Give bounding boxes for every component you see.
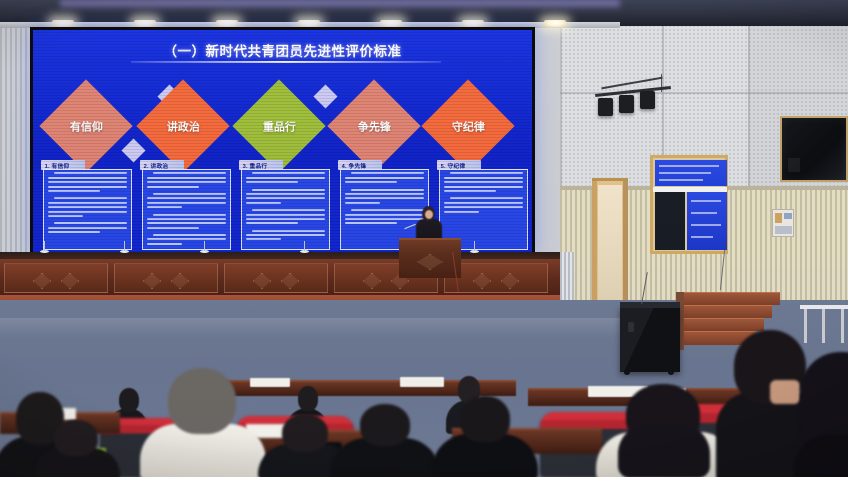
stage-panel-diamond <box>61 273 79 289</box>
stage-panel-cell <box>224 263 328 293</box>
booth-reflection-line <box>659 172 711 174</box>
stage-light-can <box>640 91 655 109</box>
mini-diamond-decor <box>313 84 337 108</box>
stair-step <box>676 305 772 318</box>
person-head <box>360 404 410 446</box>
mic-stand <box>474 241 475 251</box>
stage-panel-diamond <box>473 273 491 289</box>
ceiling-spot-light <box>298 20 320 27</box>
led-screen[interactable]: （一）新时代共青团员先进性评价标准 有信仰 讲政治 重品行 争先锋 <box>30 27 535 255</box>
desk-paper <box>400 377 444 387</box>
wall-tv[interactable] <box>780 116 848 182</box>
person-head <box>282 414 328 452</box>
floor-speaker-caster <box>624 370 630 375</box>
poster-block <box>775 213 782 223</box>
diamond-5-label: 守纪律 <box>452 118 485 134</box>
control-booth-window[interactable] <box>650 155 728 254</box>
stage-panel-cell <box>4 263 108 293</box>
slide-title: （一）新时代共青团员先进性评价标准 <box>33 40 532 60</box>
door-panel <box>598 185 622 300</box>
mini-diamond-decor <box>121 138 145 162</box>
audience-person-foreground <box>140 368 266 477</box>
booth-lower-glass <box>687 192 727 250</box>
mic-stand <box>124 241 125 251</box>
person-head <box>168 368 236 434</box>
stage-panel-diamond <box>281 273 299 289</box>
ceiling-spot-light <box>544 20 566 27</box>
floor-speaker <box>620 306 680 372</box>
podium <box>399 238 461 278</box>
auditorium-photo: （一）新时代共青团员先进性评价标准 有信仰 讲政治 重品行 争先锋 <box>0 0 848 477</box>
stage-panel-diamond <box>501 273 519 289</box>
panel-5-heading: 5. 守纪律 <box>441 161 466 170</box>
slide-panel-2[interactable]: 2. 讲政治 <box>140 160 231 250</box>
diamond-row: 有信仰 讲政治 重品行 争先锋 守纪律 <box>33 90 532 162</box>
mic-stand <box>44 241 45 251</box>
person-head <box>119 388 139 412</box>
diamond-3-label: 重品行 <box>263 118 296 134</box>
panel-3-heading: 3. 重品行 <box>243 161 268 170</box>
stage-panel-diamond <box>143 273 161 289</box>
booth-reflection-line <box>691 236 713 238</box>
ceiling-spot-light <box>216 20 238 27</box>
audience-person-foreground <box>330 404 440 477</box>
ceiling-spot-light <box>462 20 484 27</box>
hair-fall <box>618 424 710 477</box>
diamond-4-label: 争先锋 <box>358 118 391 134</box>
booth-reflection-line <box>659 179 703 181</box>
cove-light <box>60 0 620 10</box>
booth-reflection-line <box>691 212 717 214</box>
panel-1-body <box>43 169 132 250</box>
person-head <box>54 420 98 456</box>
stage-panel-diamond <box>33 273 51 289</box>
side-table-leg <box>841 309 844 343</box>
diamond-2-label: 讲政治 <box>167 118 200 134</box>
booth-reflection-line <box>691 200 721 202</box>
diamond-5[interactable]: 守纪律 <box>421 79 514 172</box>
wall-seam <box>748 0 750 190</box>
neck-skin <box>770 380 800 404</box>
mic-stand <box>304 241 305 251</box>
panel-3-body <box>241 169 330 250</box>
slide-panel-3[interactable]: 3. 重品行 <box>239 160 330 250</box>
stage-panel-cell <box>114 263 218 293</box>
mic-stand <box>204 241 205 251</box>
floor-speaker-top <box>620 302 680 308</box>
person-head <box>460 396 510 442</box>
side-door[interactable] <box>592 178 628 300</box>
ceiling-spot-light <box>380 20 402 27</box>
diamond-1[interactable]: 有信仰 <box>39 79 132 172</box>
stair-step <box>676 292 780 305</box>
booth-reflection-line <box>691 224 721 226</box>
stage-panel-diamond <box>363 273 381 289</box>
title-underline <box>131 61 441 63</box>
slide-panel-5[interactable]: 5. 守纪律 <box>437 160 528 250</box>
poster-block <box>784 213 792 219</box>
stage-light-can <box>598 98 613 116</box>
panel-4-heading: 4. 争先锋 <box>342 161 367 170</box>
slide-surface: （一）新时代共青团员先进性评价标准 有信仰 讲政治 重品行 争先锋 <box>33 30 532 252</box>
diamond-3[interactable]: 重品行 <box>232 79 325 172</box>
ceiling-spot-light <box>52 20 74 27</box>
booth-interior <box>655 192 685 250</box>
audience-person-foreground <box>432 396 538 477</box>
ceiling-spot-light <box>134 20 156 27</box>
wall-radiator <box>560 252 574 300</box>
booth-reflection-line <box>659 165 719 167</box>
audience-person-foreground <box>34 420 120 477</box>
diamond-1-label: 有信仰 <box>70 118 103 134</box>
poster-block <box>775 226 792 234</box>
booth-upper-glass <box>655 160 727 186</box>
presenter-face <box>425 210 433 219</box>
audience-person-foreground <box>596 384 736 477</box>
diamond-4[interactable]: 争先锋 <box>327 79 420 172</box>
floor-sheen <box>0 318 620 338</box>
floor-speaker-caster <box>668 370 674 375</box>
podium-diamond-inlay <box>417 254 443 270</box>
panel-1-heading: 1. 有信仰 <box>45 161 70 170</box>
diamond-2[interactable]: 讲政治 <box>136 79 229 172</box>
panel-2-body <box>142 169 231 250</box>
tv-screen-gleam <box>788 158 800 172</box>
stage-front-panel <box>0 259 560 297</box>
slide-panel-1[interactable]: 1. 有信仰 <box>41 160 132 250</box>
stage-light-can <box>619 95 634 113</box>
framed-poster <box>772 209 794 237</box>
panel-row: 1. 有信仰 2. 讲政治 <box>41 160 530 250</box>
panel-2-heading: 2. 讲政治 <box>144 161 169 170</box>
audience-person-foreground <box>800 352 848 477</box>
stage-panel-diamond <box>171 273 189 289</box>
stage-panel-diamond <box>253 273 271 289</box>
wall-seam <box>560 0 562 190</box>
stage-light-rig <box>595 78 673 120</box>
person-head <box>298 386 318 411</box>
floor-speaker-handle <box>628 322 634 332</box>
